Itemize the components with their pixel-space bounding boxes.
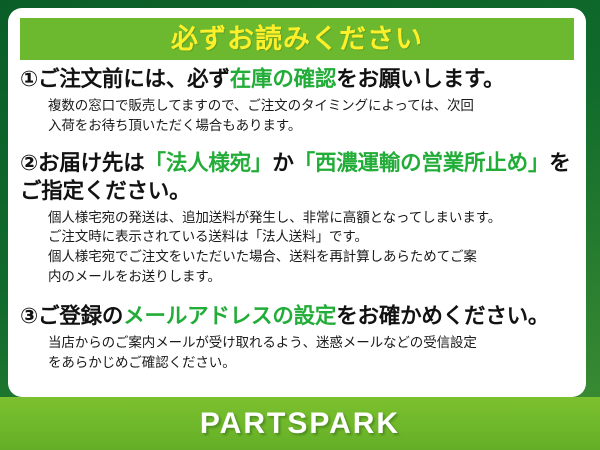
brand-logo: PARTSPARK [200, 409, 400, 439]
section-2-heading: ②お届け先は「法人様宛」か「西濃運輸の営業所止め」をご指定ください。 [20, 150, 578, 206]
section-1-heading-part-3: をお願いします。 [336, 67, 504, 91]
footer-bar: PARTSPARK [0, 397, 600, 450]
section-3-body-line-1: 当店からのご案内メールが受け取れるよう、迷惑メールなどの受信設定 [48, 333, 578, 353]
section-3-marker: ③ [20, 304, 38, 328]
notice-section-2: ②お届け先は「法人様宛」か「西濃運輸の営業所止め」をご指定ください。 個人様宅宛… [8, 150, 586, 287]
section-3-heading-part-3: をお確かめください。 [336, 304, 549, 328]
section-2-heading-part-1: お届け先は [38, 151, 145, 175]
section-2-marker: ② [20, 151, 38, 175]
section-2-heading-part-4: 「西濃運輸の営業所止め」 [294, 151, 550, 175]
section-1-body-line-1: 複数の窓口で販売してますので、ご注文のタイミングによっては、次回 [48, 96, 578, 116]
section-3-body: 当店からのご案内メールが受け取れるよう、迷惑メールなどの受信設定をあらかじめご確… [48, 333, 578, 373]
notice-section-1: ①ご注文前には、必ず在庫の確認をお願いします。 複数の窓口で販売してますので、ご… [8, 66, 586, 136]
notice-section-3: ③ご登録のメールアドレスの設定をお確かめください。 当店からのご案内メールが受け… [8, 303, 586, 373]
notice-panel: 必ずお読みください ①ご注文前には、必ず在庫の確認をお願いします。 複数の窓口で… [8, 8, 586, 397]
section-1-heading-part-1: ご注文前には、必ず [38, 67, 230, 91]
section-2-body-line-4: 内のメールをお送りします。 [48, 267, 578, 287]
section-1-heading-part-2: 在庫の確認 [230, 67, 337, 91]
section-3-heading-part-1: ご登録の [38, 304, 123, 328]
section-2-body-line-1: 個人様宅宛の発送は、追加送料が発生し、非常に高額となってしまいます。 [48, 208, 578, 228]
section-3-heading: ③ご登録のメールアドレスの設定をお確かめください。 [20, 303, 578, 331]
section-3-heading-part-2: メールアドレスの設定 [123, 304, 336, 328]
section-1-body-line-2: 入荷をお待ち頂いただく場合もあります。 [48, 116, 578, 136]
page-title: 必ずお読みください [171, 26, 423, 53]
notice-banner: 必ずお読みください ①ご注文前には、必ず在庫の確認をお願いします。 複数の窓口で… [0, 0, 600, 450]
section-1-marker: ① [20, 67, 38, 91]
section-3-body-line-2: をあらかじめご確認ください。 [48, 353, 578, 373]
section-2-body-line-2: ご注文時に表示されている送料は「法人送料」です。 [48, 227, 578, 247]
section-1-body: 複数の窓口で販売してますので、ご注文のタイミングによっては、次回入荷をお待ち頂い… [48, 96, 578, 136]
section-2-body: 個人様宅宛の発送は、追加送料が発生し、非常に高額となってしまいます。ご注文時に表… [48, 208, 578, 287]
section-2-body-line-3: 個人様宅宛でご注文をいただいた場合、送料を再計算しあらためてご案 [48, 247, 578, 267]
section-2-heading-part-2: 「法人様宛」 [145, 151, 273, 175]
title-bar: 必ずお読みください [20, 18, 574, 60]
section-1-heading: ①ご注文前には、必ず在庫の確認をお願いします。 [20, 66, 578, 94]
section-2-heading-part-3: か [272, 151, 293, 175]
notice-content: ①ご注文前には、必ず在庫の確認をお願いします。 複数の窓口で販売してますので、ご… [8, 66, 586, 373]
